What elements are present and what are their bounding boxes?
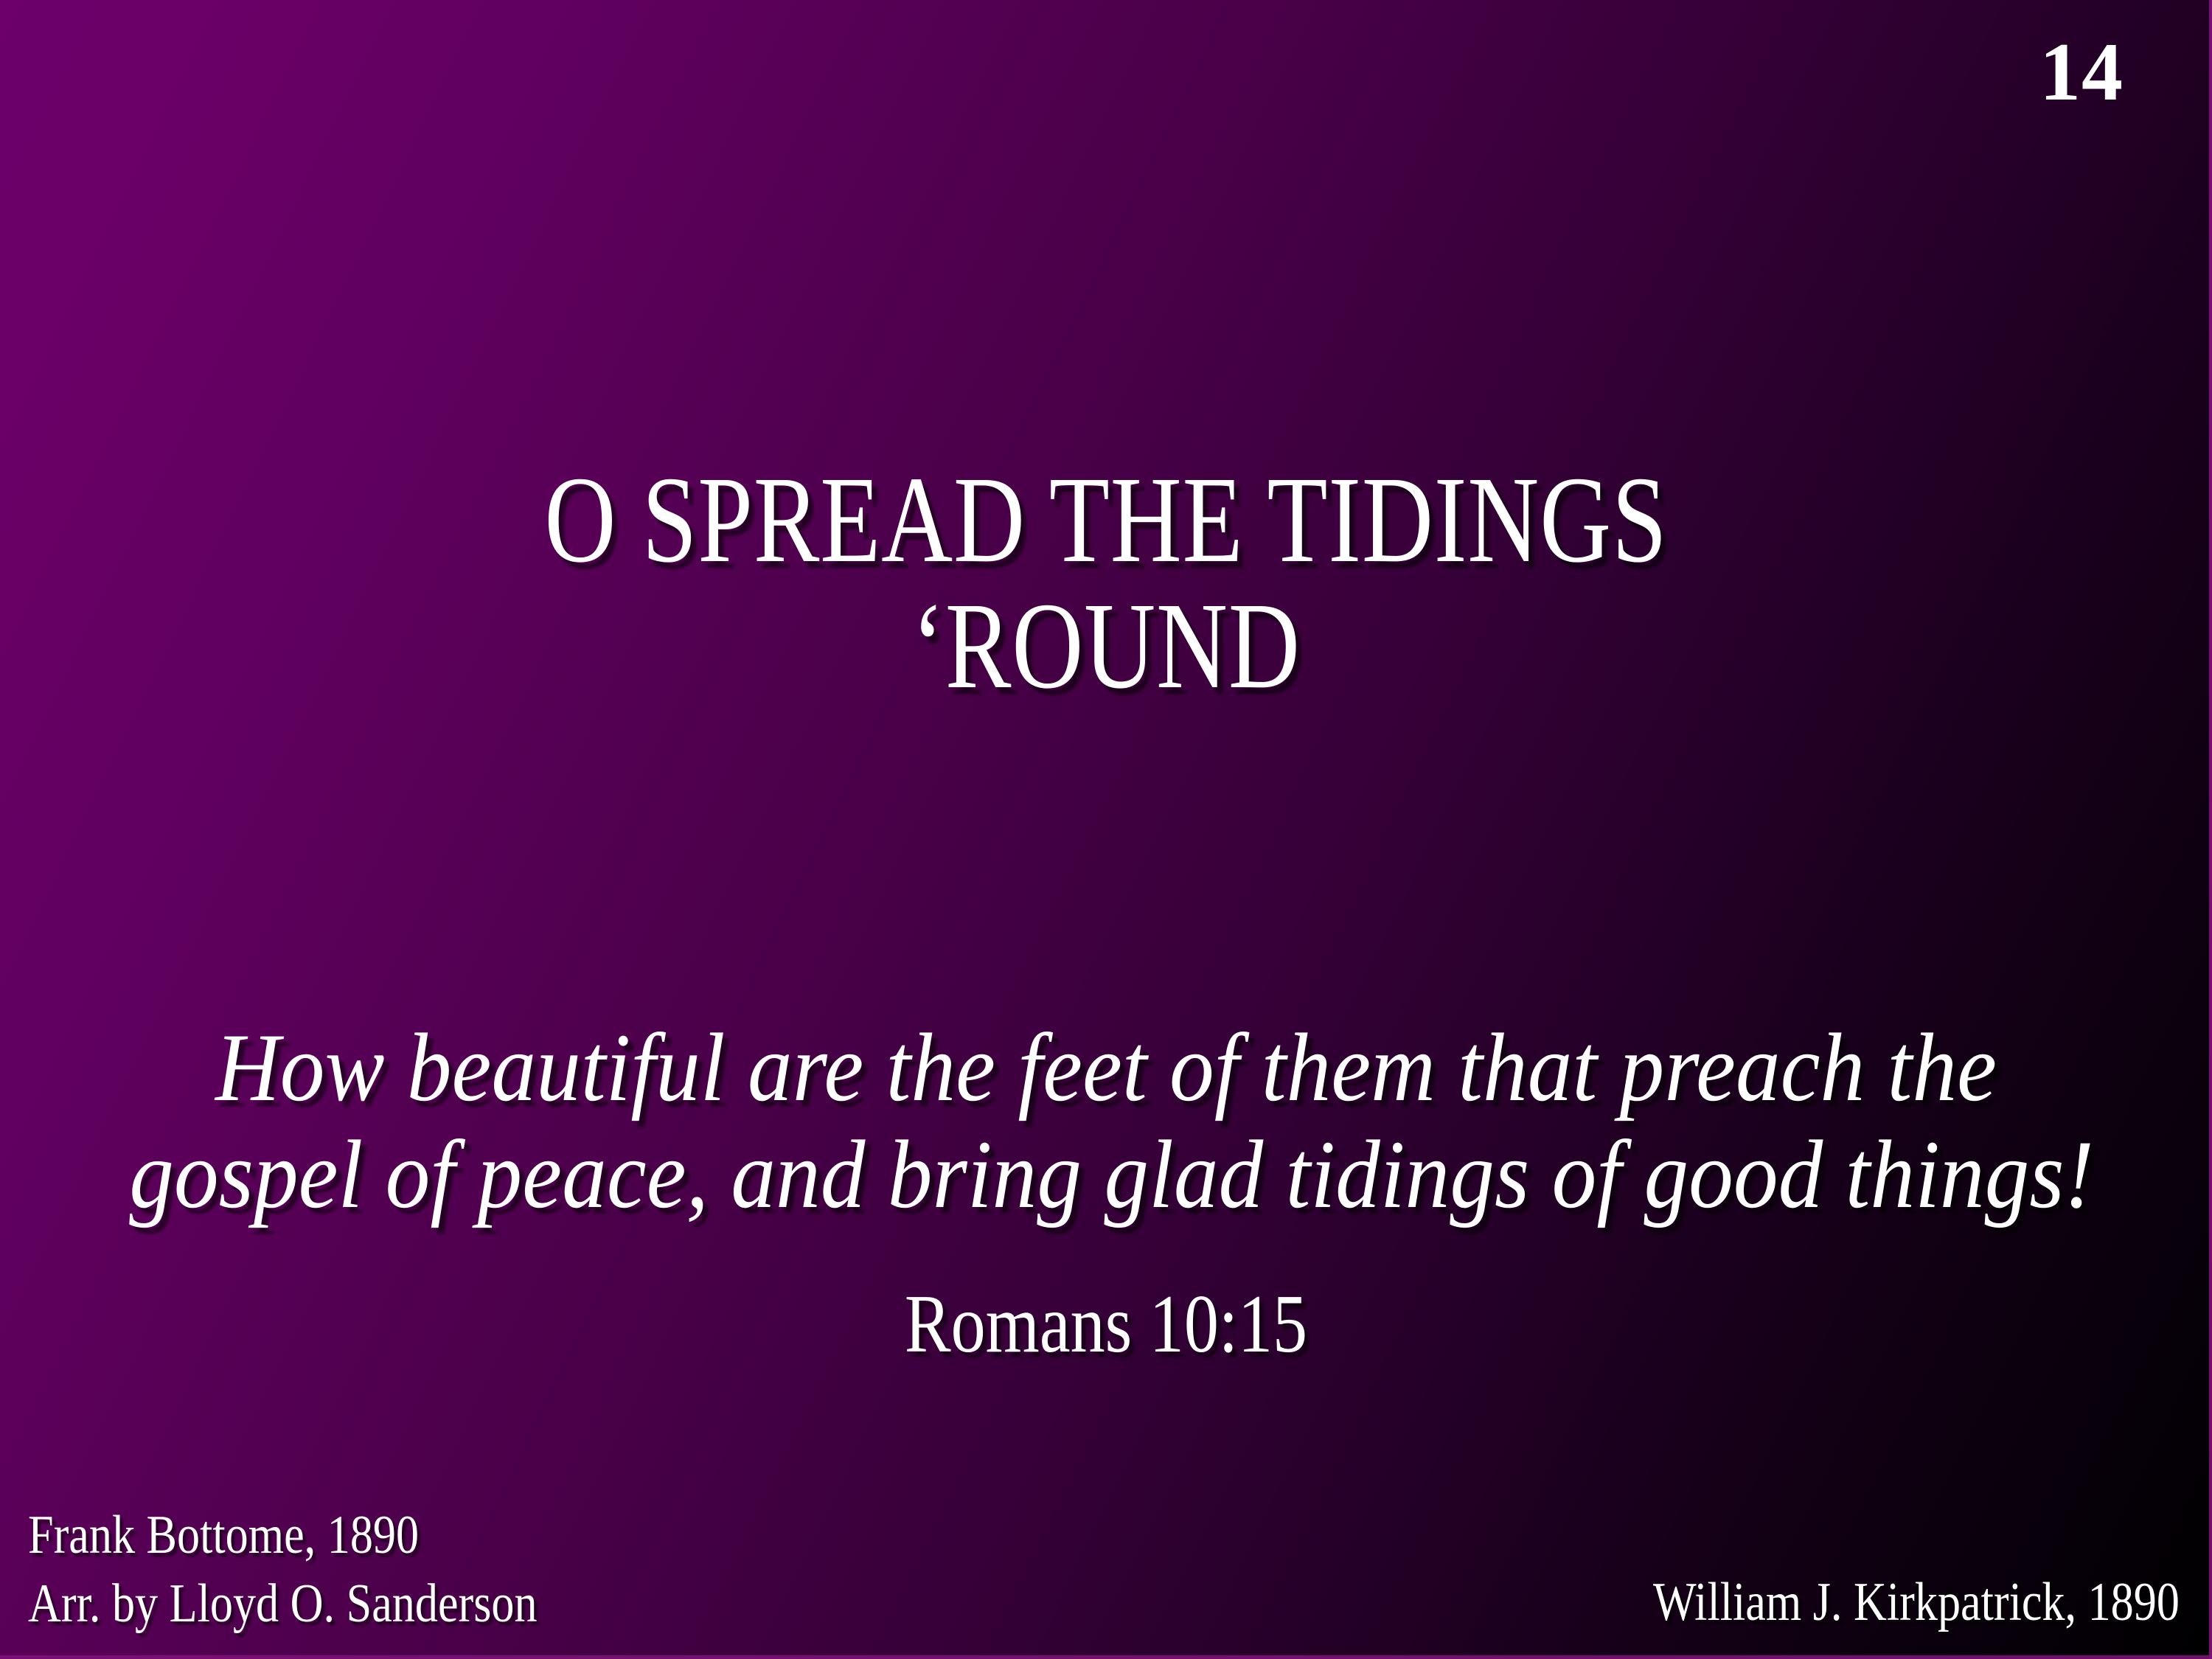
title-line-2: ‘ROUND: [310, 583, 1902, 709]
scripture-reference: Romans 10:15: [214, 1279, 1997, 1370]
title-block: O SPREAD THE TIDINGS ‘ROUND: [111, 457, 2101, 710]
slide-number: 14: [2039, 31, 2124, 114]
credits-right: William J. Kirkpatrick, 1890: [1553, 1568, 2180, 1637]
credit-composer: William J. Kirkpatrick, 1890: [1653, 1568, 2180, 1637]
credit-author: Frank Bottome, 1890: [28, 1501, 538, 1570]
scripture-line-2: gospel of peace, and bring glad tidings …: [129, 1121, 2083, 1228]
credits-left: Frank Bottome, 1890 Arr. by Lloyd O. San…: [28, 1501, 634, 1638]
title-line-1: O SPREAD THE TIDINGS: [310, 457, 1902, 583]
scripture-line-1: How beautiful are the feet of them that …: [129, 1014, 2083, 1121]
scripture-block: How beautiful are the feet of them that …: [44, 1014, 2168, 1228]
bottom-edge-border: [0, 1655, 2212, 1659]
right-edge-border: [2209, 0, 2212, 1659]
hymn-slide: 14 O SPREAD THE TIDINGS ‘ROUND How beaut…: [0, 0, 2212, 1659]
credit-arranger: Arr. by Lloyd O. Sanderson: [28, 1570, 538, 1638]
